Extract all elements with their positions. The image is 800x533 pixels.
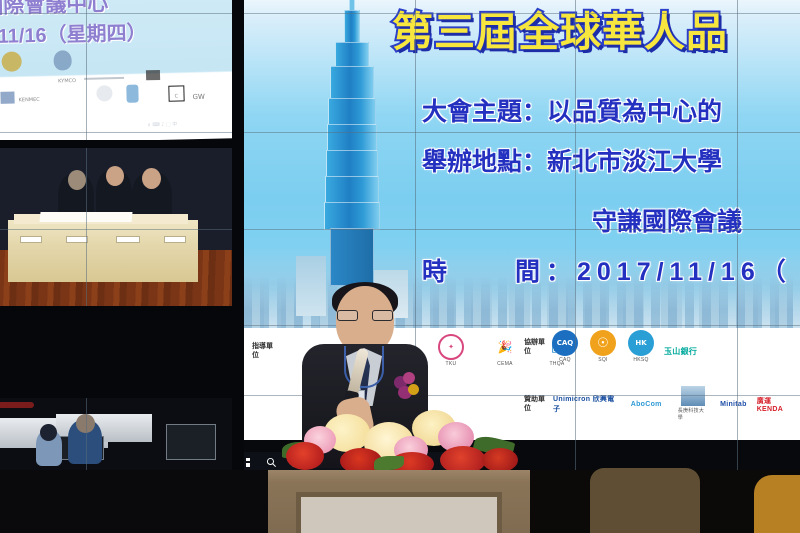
- slide-line-theme: 大會主題：以品質為中心的: [422, 92, 722, 128]
- foreground-left-dark: [0, 470, 268, 533]
- wall-bezel-v3: [575, 0, 576, 472]
- wall-row-bezel-2: [0, 306, 232, 398]
- secondary-feed-line2: 7/11/16（星期四）: [0, 16, 147, 49]
- sponsor-group-label-1: 協辦單位: [524, 338, 546, 354]
- tku-logo-caption: TKU: [446, 361, 457, 367]
- gkt-logo-caption: 長庚科技大學: [678, 407, 708, 421]
- cema-logo-caption: CEMA: [497, 361, 513, 367]
- wall-bezel-h2: [0, 132, 800, 133]
- flower-red-5: [482, 448, 518, 472]
- wall-row-bezel: [0, 140, 232, 148]
- foreground-corner-accent: [754, 475, 800, 533]
- secondary-logo-caption-2: GW: [192, 93, 205, 101]
- wall-bezel-v4: [737, 0, 738, 472]
- signatory-2-head: [106, 166, 124, 186]
- hksq-logo: HK HKSQ: [628, 330, 654, 363]
- sponsor-group-support: 贊助單位 Unimicron 欣興電子 AboCom 長庚科技大學 Minita…: [524, 386, 800, 421]
- tku-logo: ✦ TKU: [438, 334, 464, 367]
- operator-1-head: [40, 424, 57, 441]
- unimicron-logo-caption: Unimicron 欣興電子: [553, 394, 619, 414]
- sqi-logo-caption: SQI: [598, 357, 608, 363]
- wall-bezel-h1: [0, 13, 800, 14]
- signatory-3-head: [142, 168, 161, 189]
- wall-bezel-h3: [0, 229, 800, 230]
- screenshot-root: 國際會議中心 7/11/16（星期四） KYMCO C GW KENMEC ∧ …: [0, 0, 800, 533]
- sponsor-group-label-0: 指導單位: [252, 342, 274, 358]
- esun-logo-caption: 玉山銀行: [664, 346, 697, 357]
- slide-heading: 第三屆全球華人品: [392, 0, 728, 58]
- gkt-logo: 長庚科技大學: [678, 386, 708, 421]
- podium: [268, 470, 530, 533]
- kenda-logo-caption: 廣運 KENDA: [757, 396, 798, 413]
- esun-logo: 玉山銀行: [664, 336, 697, 357]
- wall-bezel-v1: [86, 0, 87, 472]
- search-icon: [266, 457, 277, 468]
- abocom-logo-caption: AboCom: [631, 401, 662, 408]
- control-monitor-2: [166, 424, 216, 460]
- secondary-feed-logo-strip: KYMCO C GW KENMEC: [0, 46, 237, 130]
- slide-line-venue: 舉辦地點：新北市淡江大學: [422, 142, 722, 178]
- caq-logo-caption: CAQ: [559, 357, 571, 363]
- speaker-glasses: [337, 310, 393, 321]
- minitab-logo: Minitab: [720, 400, 747, 408]
- secondary-feed-tray: ∧ ⌨ ♪ ⬚ 中: [147, 121, 177, 129]
- cema-logo: 🎉 CEMA: [492, 334, 518, 367]
- control-desk-feed: [0, 396, 236, 472]
- signing-ceremony-feed: [0, 148, 232, 308]
- podium-panel: [296, 492, 502, 533]
- slide-line-venue2: 守謙國際會議: [592, 202, 742, 238]
- floral-arrangement: [278, 408, 528, 474]
- kenda-logo: 廣運 KENDA: [757, 395, 798, 413]
- unimicron-logo: Unimicron 欣興電子: [553, 393, 619, 414]
- sqi-logo: ☉ SQI: [590, 330, 616, 363]
- flower-red-1: [286, 442, 324, 470]
- signatory-1-head: [68, 170, 86, 190]
- foreground-right-dark: [530, 470, 800, 533]
- sponsor-group-cohost: 協辦單位 CAQ CAQ ☉ SQI HK HKSQ 玉山銀行: [524, 330, 703, 363]
- secondary-logo-caption-3: KENMEC: [19, 97, 40, 104]
- wall-column-bezel: [232, 0, 244, 472]
- secondary-feed-slide: 國際會議中心 7/11/16（星期四） KYMCO C GW KENMEC ∧ …: [0, 0, 244, 144]
- corsage: [392, 372, 422, 406]
- abocom-logo: AboCom: [631, 400, 662, 408]
- secondary-logo-caption-0: KYMCO: [58, 78, 76, 84]
- hksq-logo-caption: HKSQ: [633, 357, 648, 363]
- minitab-logo-caption: Minitab: [720, 401, 747, 408]
